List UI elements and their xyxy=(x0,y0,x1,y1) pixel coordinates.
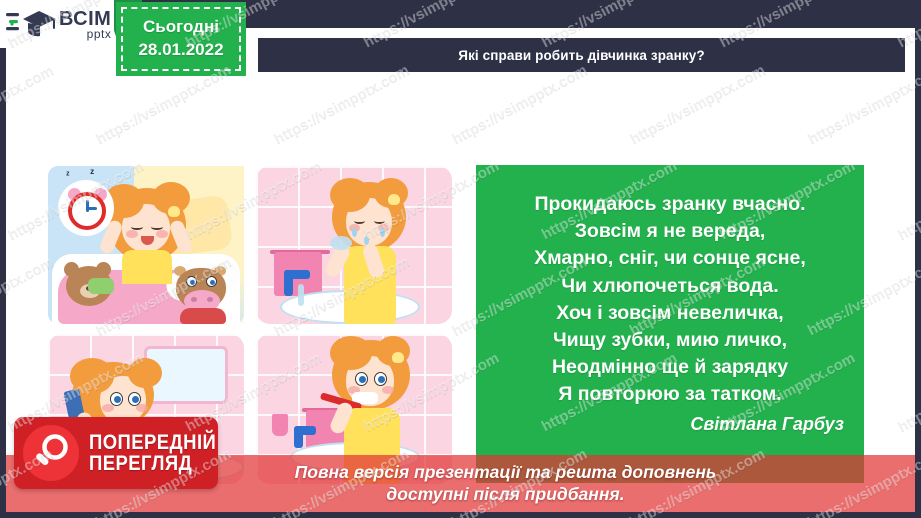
panel-waking-up: ᶻ ᶻ xyxy=(48,166,244,324)
poem-line: Я повторюю за татком. xyxy=(490,381,850,408)
poem-author: Світлана Гарбуз xyxy=(490,414,850,435)
magnifier-icon xyxy=(23,425,79,481)
date-badge: Сьогодні 28.01.2022 xyxy=(116,2,246,76)
brand-logo: ВСІМ pptx xyxy=(0,0,114,48)
poem-line: Неодмінно ще й зарядку xyxy=(490,354,850,381)
poem-line: Хмарно, сніг, чи сонце ясне, xyxy=(490,245,850,272)
poem-line: Хоч і зовсім невеличка, xyxy=(490,300,850,327)
brand-name: ВСІМ xyxy=(59,9,111,29)
graduation-cap-icon xyxy=(6,7,58,41)
preview-badge[interactable]: ПОПЕРЕДНІЙ ПЕРЕГЛЯД xyxy=(14,417,218,489)
poem-line: Чи хлюпочеться вода. xyxy=(490,273,850,300)
promo-text: Повна версія презентації та решта доповн… xyxy=(205,462,717,505)
poem-box: Прокидаюсь зранку вчасно. Зовсім я не ве… xyxy=(476,165,864,483)
poem-line: Прокидаюсь зранку вчасно. xyxy=(490,191,850,218)
slide-root: ᶻ ᶻ xyxy=(0,0,921,518)
panel-washing-face xyxy=(256,166,452,324)
date-badge-value: 28.01.2022 xyxy=(138,39,223,62)
preview-badge-text: ПОПЕРЕДНІЙ ПЕРЕГЛЯД xyxy=(89,432,234,475)
poem-line: Зовсім я не вереда, xyxy=(490,218,850,245)
slide-title-bar: Які справи робить дівчинка зранку? xyxy=(258,38,905,72)
preview-badge-line-2: ПЕРЕГЛЯД xyxy=(89,453,216,474)
poem-lines: Прокидаюсь зранку вчасно. Зовсім я не ве… xyxy=(490,191,850,409)
promo-line-2: доступні після придбання. xyxy=(295,484,717,505)
page-title: Які справи робить дівчинка зранку? xyxy=(458,48,704,63)
brand-logo-text: ВСІМ pptx xyxy=(59,9,111,40)
date-badge-label: Сьогодні xyxy=(143,16,219,39)
poem-line: Чищу зубки, мию личко, xyxy=(490,327,850,354)
promo-line-1: Повна версія презентації та решта доповн… xyxy=(295,462,717,483)
preview-badge-line-1: ПОПЕРЕДНІЙ xyxy=(89,432,216,453)
